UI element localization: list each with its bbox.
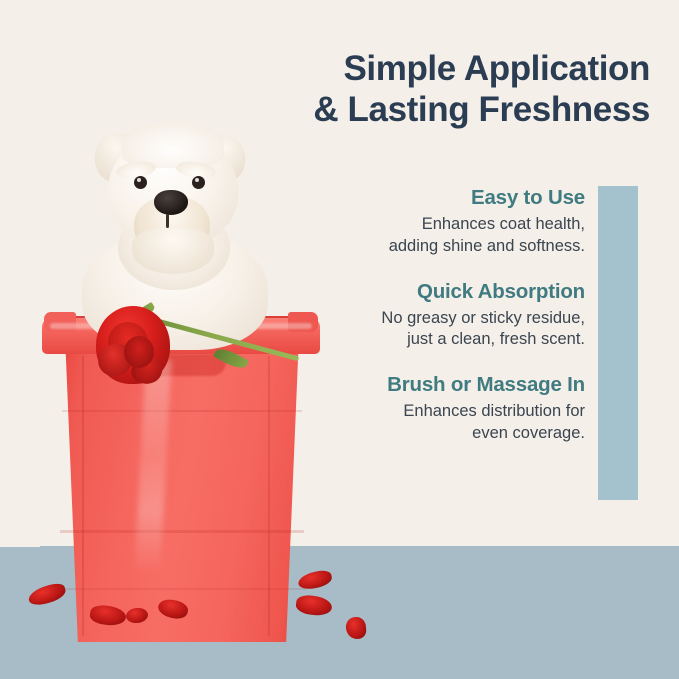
- dog-beard: [132, 228, 214, 274]
- feature-title: Brush or Massage In: [320, 373, 585, 397]
- feature-description: Enhances coat health, adding shine and s…: [320, 214, 585, 258]
- feature-item-quick-absorption: Quick Absorption No greasy or sticky res…: [320, 280, 585, 352]
- rose-leaf-a: [213, 345, 249, 372]
- rose-icon: [92, 302, 307, 412]
- feature-item-brush-or-massage-in: Brush or Massage In Enhances distributio…: [320, 373, 585, 445]
- accent-bar: [598, 186, 638, 500]
- feature-description-line-2: adding shine and softness.: [320, 236, 585, 258]
- feature-description-line-1: Enhances distribution for: [320, 401, 585, 423]
- dog-nose: [154, 190, 188, 215]
- dog-eye-right: [192, 176, 205, 189]
- feature-list: Easy to Use Enhances coat health, adding…: [320, 186, 585, 445]
- feature-description-line-1: Enhances coat health,: [320, 214, 585, 236]
- headline-line-1: Simple Application: [238, 48, 650, 89]
- bin-ridge-lower: [60, 588, 306, 590]
- feature-title: Easy to Use: [320, 186, 585, 210]
- feature-description-line-2: even coverage.: [320, 423, 585, 445]
- bin-ridge-middle: [60, 530, 304, 533]
- dog-eye-left: [134, 176, 147, 189]
- feature-description-line-1: No greasy or sticky residue,: [320, 308, 585, 330]
- feature-item-easy-to-use: Easy to Use Enhances coat health, adding…: [320, 186, 585, 258]
- dog-mouth: [166, 214, 169, 228]
- bin-panel-seam-left: [82, 356, 84, 636]
- feature-title: Quick Absorption: [320, 280, 585, 304]
- product-photo: [0, 110, 340, 630]
- rose-petal-inner-2: [124, 336, 154, 368]
- rose-bloom: [96, 306, 170, 384]
- product-feature-infographic: Simple Application & Lasting Freshness E…: [0, 0, 679, 679]
- feature-description-line-2: just a clean, fresh scent.: [320, 329, 585, 351]
- feature-description: Enhances distribution for even coverage.: [320, 401, 585, 445]
- feature-description: No greasy or sticky residue, just a clea…: [320, 308, 585, 352]
